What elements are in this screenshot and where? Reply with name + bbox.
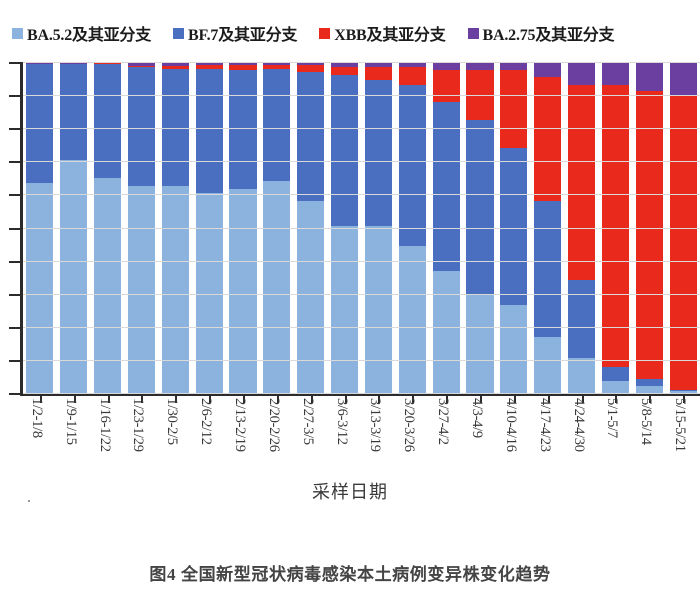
bar-segment [331,75,358,226]
bar-segment [602,367,629,382]
bar-segment [399,67,426,85]
bar-segment [670,95,697,390]
x-axis-label: 3/13-3/19 [366,398,383,452]
bar-segment [365,226,392,393]
bar-segment [500,305,527,393]
bar-segment [365,80,392,226]
legend-swatch-bf7 [173,28,184,39]
y-axis-tick [9,393,21,395]
bar-segment [466,62,493,70]
bar-segment [534,201,561,337]
bar-segment [60,160,87,393]
bar-1/9-1/15[interactable] [60,62,87,393]
bar-segment [162,69,189,187]
x-axis-line [20,393,700,396]
gridline [23,327,700,328]
legend-label-xbb: XBB及其亚分支 [334,21,445,45]
bar-segment [297,201,324,393]
chart-area [0,55,700,400]
x-axis-label: 2/27-3/5 [299,398,316,445]
bar-5/1-5/7[interactable] [602,62,629,393]
bar-segment [636,386,663,393]
bar-4/10-4/16[interactable] [500,62,527,393]
bar-segment [500,148,527,305]
chart-legend: BA.5.2及其亚分支BF.7及其亚分支XBB及其亚分支BA.2.75及其亚分支 [0,20,700,46]
x-axis-label: 5/1-5/7 [603,398,620,438]
bar-segment [128,67,155,186]
bar-segment [26,183,53,393]
x-axis-label: 1/9-1/15 [62,398,79,445]
gridline [23,161,700,162]
x-axis-label: 4/10-4/16 [502,398,519,452]
bar-segment [433,70,460,101]
bar-segment [433,102,460,271]
bar-segment [670,62,697,95]
bar-segment [94,178,121,393]
x-axis-label: 1/23-1/29 [129,398,146,452]
x-axis-title: 采样日期 [0,478,700,504]
bar-segment [229,189,256,393]
bar-2/6-2/12[interactable] [196,62,223,393]
x-axis-label: 1/30-2/5 [163,398,180,445]
bar-2/27-3/5[interactable] [297,62,324,393]
bar-segment [466,294,493,393]
bar-segment [534,77,561,201]
x-axis-label: 1/2-1/8 [28,398,45,438]
bar-4/24-4/30[interactable] [568,62,595,393]
y-axis-tick [9,62,21,64]
gridline [23,128,700,129]
bar-segment [331,226,358,393]
bar-segment [636,62,663,91]
bar-segment [636,379,663,386]
bar-segment [399,85,426,246]
bar-2/13-2/19[interactable] [229,62,256,393]
gridline [23,62,700,63]
bar-segment [331,67,358,75]
bar-5/8-5/14[interactable] [636,62,663,393]
bar-segment [94,64,121,178]
bar-segment [263,181,290,393]
bar-3/6-3/12[interactable] [331,62,358,393]
gridline [23,294,700,295]
bar-4/3-4/9[interactable] [466,62,493,393]
x-axis-label: 3/27-4/2 [434,398,451,445]
legend-item-xbb[interactable]: XBB及其亚分支 [319,21,445,45]
gridline [23,228,700,229]
bar-3/27-4/2[interactable] [433,62,460,393]
gridline [23,194,700,195]
bar-segment [500,62,527,70]
bar-4/17-4/23[interactable] [534,62,561,393]
bar-segment [433,271,460,393]
bar-segment [602,381,629,393]
y-axis-tick [9,128,21,130]
legend-swatch-ba52 [12,28,23,39]
bar-2/20-2/26[interactable] [263,62,290,393]
legend-swatch-xbb [319,28,330,39]
y-axis-tick [9,161,21,163]
plot-area [23,62,700,393]
figure-caption: 图4 全国新型冠状病毒感染本土病例变异株变化趋势 [0,560,700,585]
bar-1/16-1/22[interactable] [94,62,121,393]
bar-segment [568,85,595,280]
bar-segment [297,65,324,72]
x-axis-label: 3/20-3/26 [400,398,417,452]
bar-segment [568,62,595,85]
y-axis-tick [9,294,21,296]
bar-segment [636,91,663,379]
x-axis-label: 5/15-5/21 [671,398,688,452]
legend-item-ba275[interactable]: BA.2.75及其亚分支 [468,21,615,45]
bar-3/13-3/19[interactable] [365,62,392,393]
y-axis-tick [9,194,21,196]
bar-segment [433,62,460,70]
x-axis-tick-labels: 1/2-1/81/9-1/151/16-1/221/23-1/291/30-2/… [0,398,700,478]
x-axis-label: 3/6-3/12 [333,398,350,445]
gridline [23,261,700,262]
bar-segment [568,358,595,393]
gridline [23,95,700,96]
x-axis-label: 2/13-2/19 [231,398,248,452]
bar-segment [602,85,629,366]
legend-item-ba52[interactable]: BA.5.2及其亚分支 [12,21,151,45]
bar-segment [162,186,189,393]
legend-swatch-ba275 [468,28,479,39]
legend-label-ba52: BA.5.2及其亚分支 [27,21,151,45]
legend-item-bf7[interactable]: BF.7及其亚分支 [173,21,297,45]
bar-segment [229,70,256,189]
x-axis-label: 4/3-4/9 [468,398,485,438]
bar-segment [297,72,324,201]
bar-segment [128,186,155,393]
bar-1/2-1/8[interactable] [26,62,53,393]
x-axis-label: 4/24-4/30 [570,398,587,452]
y-axis-tick [9,228,21,230]
bar-segment [196,69,223,193]
bar-1/30-2/5[interactable] [162,62,189,393]
x-axis-label: 4/17-4/23 [536,398,553,452]
legend-label-bf7: BF.7及其亚分支 [188,21,297,45]
bar-segment [26,64,53,182]
gridline [23,360,700,361]
bar-segment [568,280,595,358]
bar-5/15-5/21[interactable] [670,62,697,393]
bar-segment [60,64,87,160]
y-axis-tick [9,95,21,97]
y-axis-tick [9,360,21,362]
bar-segment [263,69,290,182]
bar-segment [602,62,629,85]
bar-segment [534,62,561,77]
bar-segment [365,67,392,80]
y-axis-tick [9,261,21,263]
bar-segment [534,337,561,393]
bar-segment [500,70,527,148]
bar-segment [670,391,697,393]
legend-label-ba275: BA.2.75及其亚分支 [483,21,615,45]
x-axis-label: 5/8-5/14 [637,398,654,445]
bar-segment [196,193,223,393]
bar-segment [466,120,493,294]
y-axis-tick [9,327,21,329]
bar-segment [399,246,426,393]
bar-3/20-3/26[interactable] [399,62,426,393]
bar-segment [466,70,493,120]
x-axis-label: 2/6-2/12 [197,398,214,445]
x-axis-label: 1/16-1/22 [96,398,113,452]
x-axis-label: 2/20-2/26 [265,398,282,452]
bar-1/23-1/29[interactable] [128,62,155,393]
